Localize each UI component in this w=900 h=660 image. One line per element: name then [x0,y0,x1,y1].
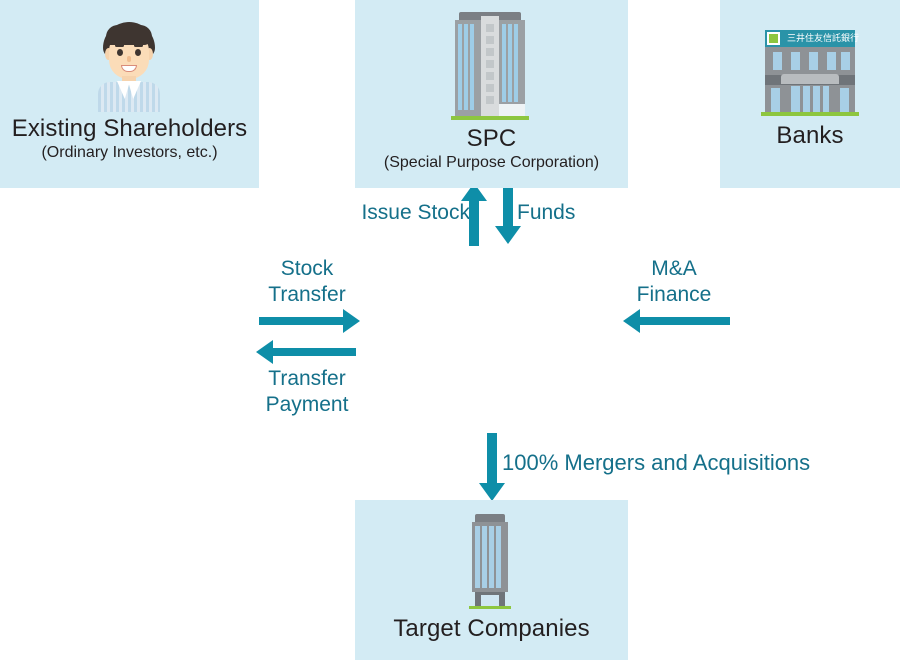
edge-label-stock-transfer: Stock Transfer [259,256,355,308]
bank-signboard-text: 三井住友信託銀行 [787,33,853,45]
edge-label-transfer-payment: Transfer Payment [259,366,355,418]
edge-label-issue-stock: Issue Stock [320,200,470,226]
twin-tower-icon [453,10,529,120]
target-companies-label: Target Companies [355,615,628,642]
node-banks: 三井住友信託銀行 [720,0,900,188]
bank-building-icon: 三井住友信託銀行 [761,30,859,116]
node-existing-shareholders: Existing Shareholders (Ordinary Investor… [0,0,259,188]
node-spc: SPC (Special Purpose Corporation) [355,0,628,188]
edge-label-funds: Funds [517,200,667,226]
banks-label: Banks [720,122,900,149]
middle-band: Existing Shareholders (Ordinary Investor… [0,0,900,188]
spc-label: SPC [355,125,628,152]
diagram-canvas: Management Team / Investment Funds,etc. … [0,0,900,660]
node-target-companies: Target Companies [355,500,628,660]
existing-shareholders-label: Existing Shareholders [0,115,259,142]
edge-label-acquisition: 100% Mergers and Acquisitions [502,450,900,476]
existing-shareholders-sublabel: (Ordinary Investors, etc.) [0,143,259,163]
investor-avatar-icon [98,22,160,112]
edge-label-ma-finance: M&A Finance [628,256,720,308]
office-tower-icon [469,514,511,609]
spc-sublabel: (Special Purpose Corporation) [355,153,628,173]
